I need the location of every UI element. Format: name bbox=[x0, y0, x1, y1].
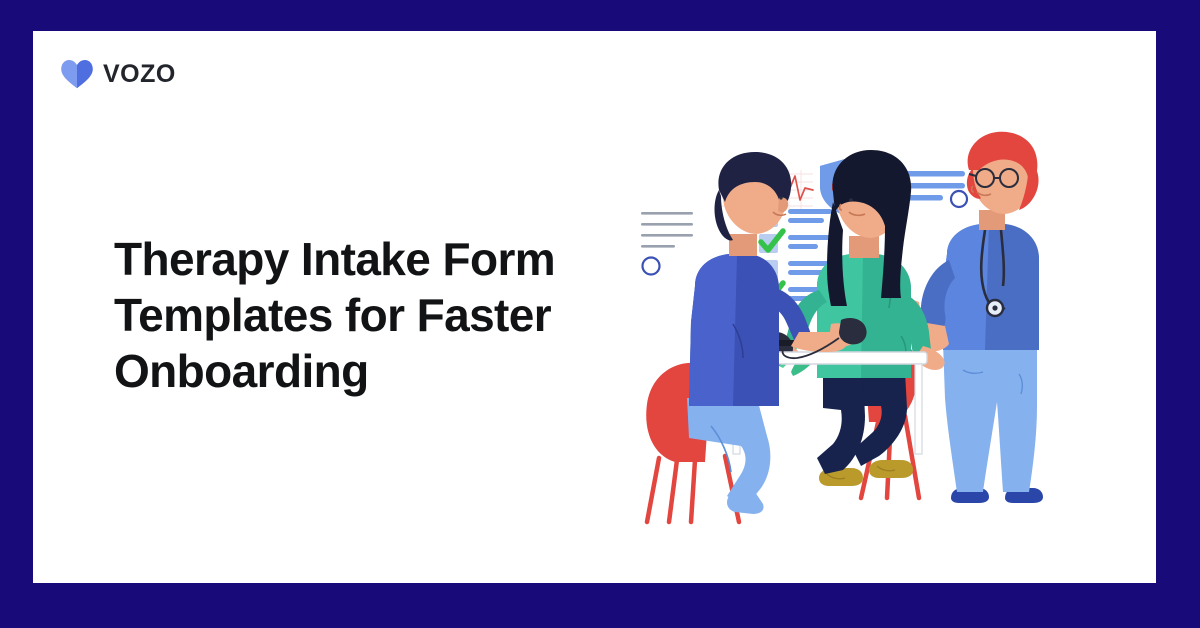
heart-icon bbox=[60, 59, 94, 89]
headline-line-2: Templates for Faster bbox=[114, 289, 551, 341]
headline-line-1: Therapy Intake Form bbox=[114, 233, 555, 285]
circle-outline bbox=[643, 258, 660, 275]
brand-name: VOZO bbox=[103, 62, 176, 87]
headline-line-3: Onboarding bbox=[114, 345, 369, 397]
social-banner: VOZO Therapy Intake Form Templates for F… bbox=[0, 0, 1200, 628]
document-lines bbox=[641, 212, 693, 275]
banner-card: VOZO Therapy Intake Form Templates for F… bbox=[33, 31, 1156, 583]
medical-consultation-illustration bbox=[633, 126, 1063, 526]
brand-logo[interactable]: VOZO bbox=[60, 59, 176, 89]
page-title: Therapy Intake Form Templates for Faster… bbox=[114, 231, 634, 399]
